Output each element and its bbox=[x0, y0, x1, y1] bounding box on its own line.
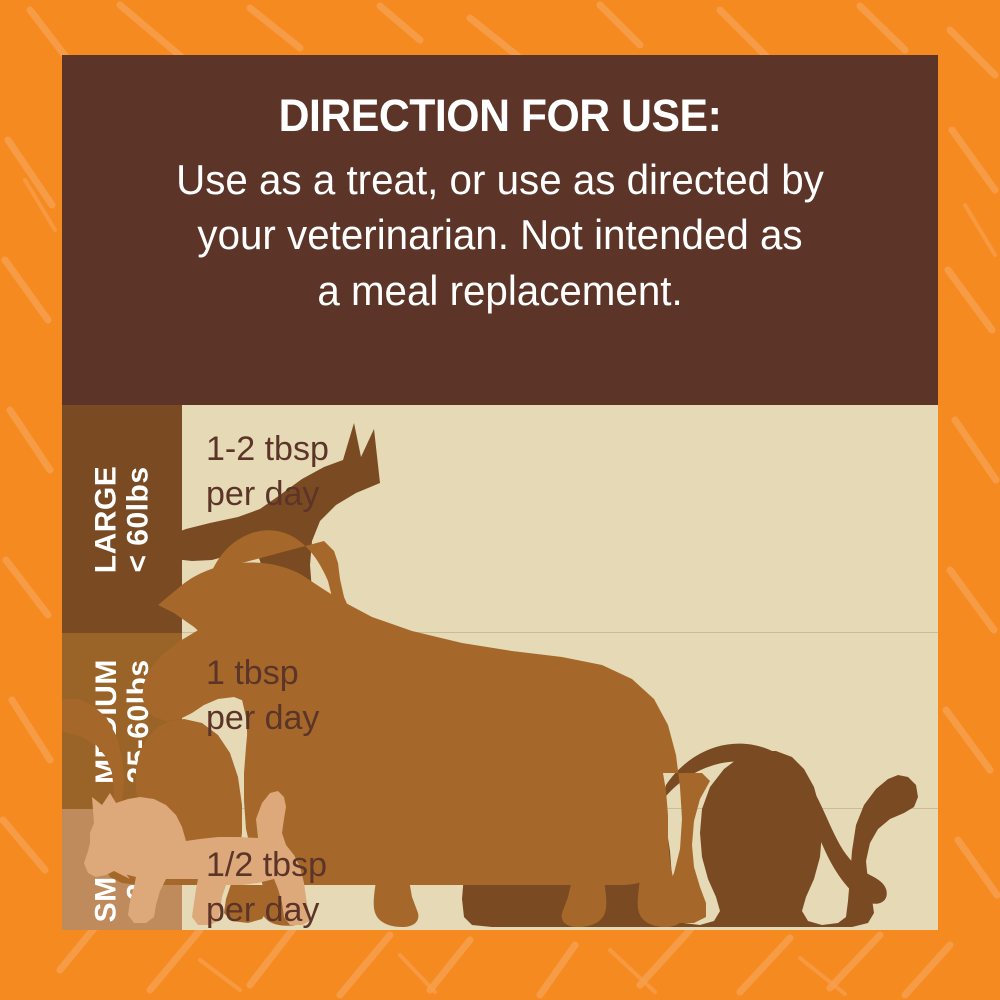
dose-frequency-small: per day bbox=[206, 888, 938, 930]
table-row-medium: MEDIUM 25-60lbs 1 tbsp per day bbox=[62, 633, 938, 809]
size-name-large: LARGE bbox=[91, 465, 123, 573]
dose-amount-medium: 1 tbsp bbox=[206, 651, 938, 696]
feeding-guide-card: DIRECTION FOR USE: Use as a treat, or us… bbox=[62, 55, 938, 930]
dose-amount-large: 1-2 tbsp bbox=[206, 427, 938, 472]
weight-range-large: < 60lbs bbox=[122, 465, 154, 573]
dose-cell-medium: 1 tbsp per day bbox=[182, 633, 938, 809]
page-title: DIRECTION FOR USE: bbox=[97, 93, 903, 138]
size-name-medium: MEDIUM bbox=[91, 659, 123, 784]
table-row-small: SMALL >25lbs 1/2 tbsp per day bbox=[62, 809, 938, 930]
size-label-cell-small: SMALL >25lbs bbox=[62, 809, 182, 930]
size-label-small: SMALL >25lbs bbox=[90, 817, 153, 923]
weight-range-small: >25lbs bbox=[122, 817, 154, 923]
dose-amount-small: 1/2 tbsp bbox=[206, 843, 938, 888]
feeding-guide-graphic: DIRECTION FOR USE: Use as a treat, or us… bbox=[0, 0, 1000, 1000]
size-label-medium: MEDIUM 25-60lbs bbox=[91, 659, 154, 784]
header-description-line-2: your veterinarian. Not intended as bbox=[93, 207, 907, 262]
size-label-large: LARGE < 60lbs bbox=[91, 465, 154, 573]
size-label-cell-large: LARGE < 60lbs bbox=[62, 405, 182, 633]
table-row-large: LARGE < 60lbs 1-2 tbsp per day bbox=[62, 405, 938, 633]
header-description: Use as a treat, or use as directed by yo… bbox=[93, 152, 907, 318]
header-panel: DIRECTION FOR USE: Use as a treat, or us… bbox=[62, 55, 938, 405]
dose-cell-large: 1-2 tbsp per day bbox=[182, 405, 938, 633]
weight-range-medium: 25-60lbs bbox=[122, 659, 154, 784]
dose-frequency-large: per day bbox=[206, 472, 938, 517]
header-description-line-1: Use as a treat, or use as directed by bbox=[93, 152, 907, 207]
dose-cell-small: 1/2 tbsp per day bbox=[182, 809, 938, 930]
size-label-cell-medium: MEDIUM 25-60lbs bbox=[62, 633, 182, 809]
dose-frequency-medium: per day bbox=[206, 696, 938, 741]
size-name-small: SMALL bbox=[90, 817, 122, 923]
header-description-line-3: a meal replacement. bbox=[93, 263, 907, 318]
dosage-table: LARGE < 60lbs 1-2 tbsp per day MEDIUM 25… bbox=[62, 405, 938, 930]
